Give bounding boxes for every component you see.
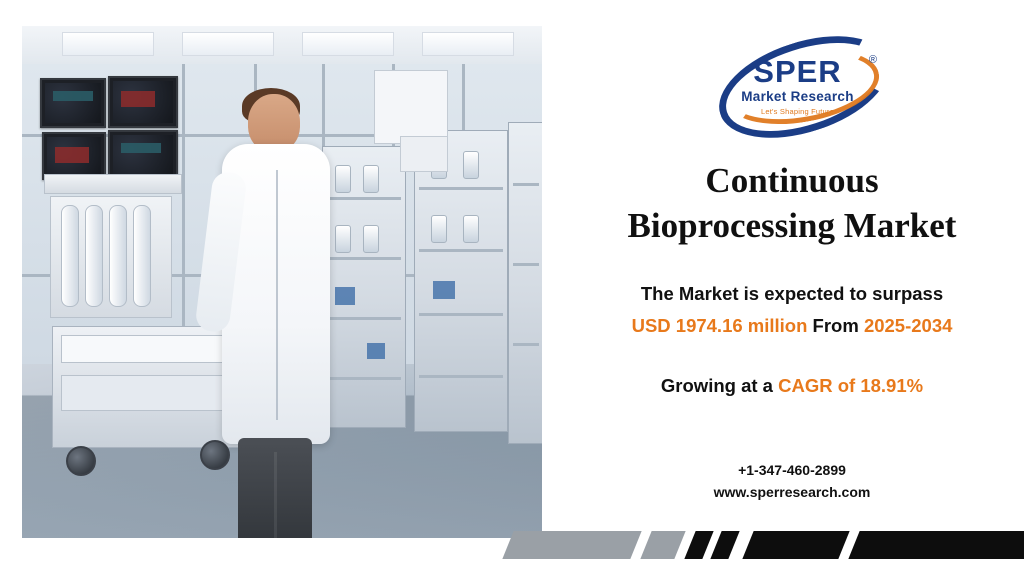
lab-monitor [42,132,106,180]
rig-top-rail [44,174,182,194]
monitor-screen [113,81,173,123]
lab-photo-scene [22,26,542,538]
cart-wheel [66,446,96,476]
overhead-unit [374,70,448,144]
indicator-module [367,343,385,359]
contact-website[interactable]: www.sperresearch.com [560,484,1024,500]
decorative-bars [0,531,1024,559]
market-value: USD 1974.16 million [632,315,808,336]
process-tube [109,205,127,307]
cagr-value: 18.91% [860,375,923,396]
sper-logo: SPER ® Market Research Let's Shaping Fut… [710,34,885,126]
process-tube [61,205,79,307]
screen-graphic [53,91,93,101]
deco-bar-black [742,531,849,559]
trousers [238,438,312,538]
control-panel [400,136,448,172]
window-mullion [182,64,185,364]
reagent-bottle [463,151,479,179]
market-statement: The Market is expected to surpass [560,283,1024,305]
equipment-rack [414,130,508,432]
forecast-period: 2025-2034 [864,315,952,336]
ceiling-light [182,32,274,56]
growth-prefix: Growing at a [661,375,773,396]
lab-photo [22,26,542,538]
deco-bar-grey [502,531,641,559]
monitor-screen [113,135,173,175]
reagent-bottle [463,215,479,243]
ceiling-light [62,32,154,56]
content-panel: SPER ® Market Research Let's Shaping Fut… [560,0,1024,577]
equipment-rack [508,122,542,444]
scientist-figure [208,86,348,538]
monitor-screen [45,83,101,123]
deco-bar-black [684,531,713,559]
poster-canvas: SPER ® Market Research Let's Shaping Fut… [0,0,1024,577]
lab-monitor [108,130,178,180]
reagent-bottle [363,225,379,253]
logo-subtitle: Market Research [710,89,885,104]
monitor-screen [47,137,101,175]
screen-graphic [121,143,161,153]
reagent-bottle [363,165,379,193]
logo-tagline: Let's Shaping Future [710,107,885,116]
ceiling-light [302,32,394,56]
deco-bar-black [848,531,1024,559]
ceiling-band [22,26,542,65]
chromatography-rig [50,196,172,318]
market-value-line: USD 1974.16 million From 2025-2034 [560,315,1024,337]
value-connector: From [813,315,859,336]
indicator-module [433,281,455,299]
screen-graphic [121,91,155,107]
lab-monitor [40,78,106,128]
cagr-line: Growing at a CAGR of 18.91% [560,375,1024,397]
cagr-label: CAGR of [778,375,855,396]
title-line-1: Continuous [705,161,878,200]
screen-graphic [55,147,89,163]
deco-bar-grey [640,531,685,559]
lab-monitor [108,76,178,128]
deco-bar-black [710,531,739,559]
process-tube [85,205,103,307]
logo-wordmark: SPER [710,54,885,90]
title-line-2: Bioprocessing Market [628,206,957,245]
registered-mark: ® [869,54,877,66]
process-tube [133,205,151,307]
contact-phone: +1-347-460-2899 [560,462,1024,478]
ceiling-light [422,32,514,56]
page-title: Continuous Bioprocessing Market [560,158,1024,248]
reagent-bottle [431,215,447,243]
